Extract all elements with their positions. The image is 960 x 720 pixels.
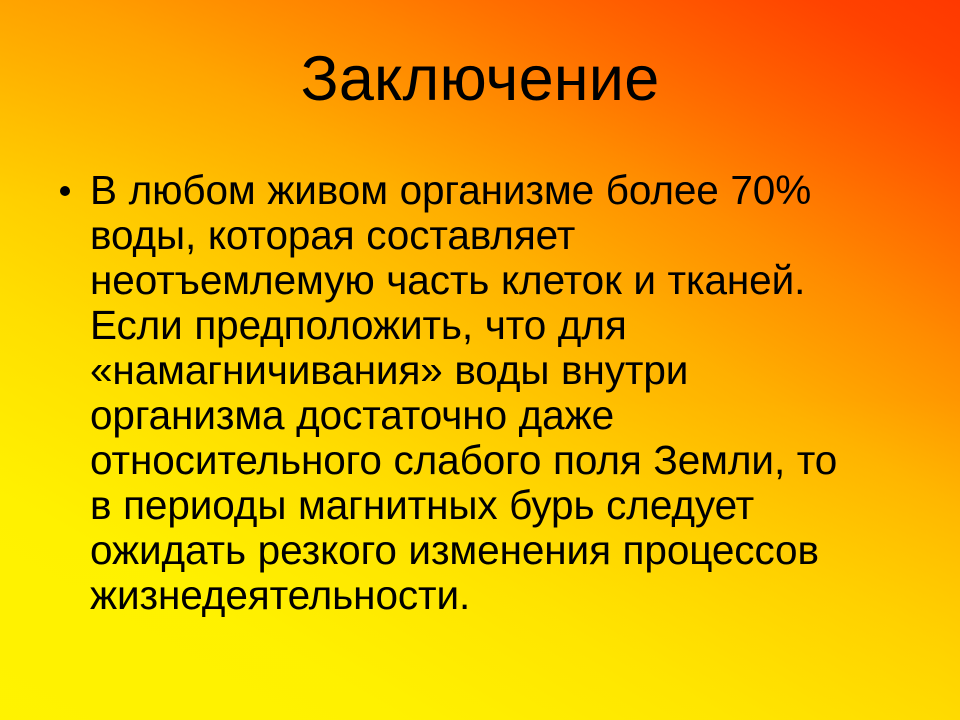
bullet-item-text: В любом живом организме более 70% воды, …	[90, 168, 928, 618]
slide-title: Заключение	[0, 46, 960, 112]
presentation-slide: Заключение В любом живом организме более…	[0, 0, 960, 720]
slide-body: В любом живом организме более 70% воды, …	[48, 168, 928, 618]
slide-content: Заключение В любом живом организме более…	[0, 0, 960, 720]
bullet-dot-icon	[60, 186, 70, 196]
list-item: В любом живом организме более 70% воды, …	[48, 168, 928, 618]
